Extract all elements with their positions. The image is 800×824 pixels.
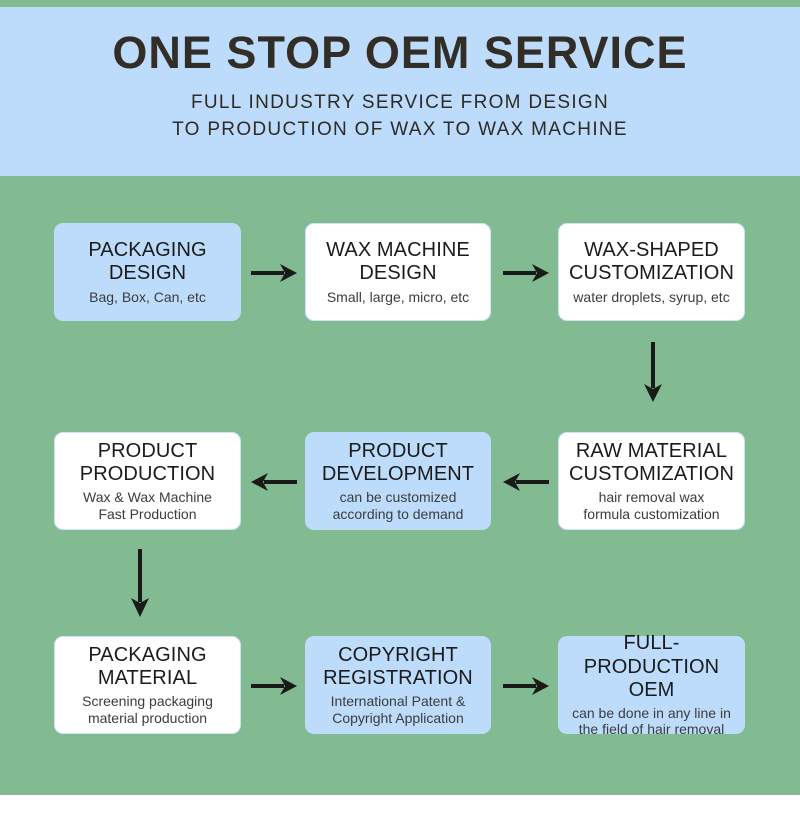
top-green-strip	[0, 0, 800, 7]
flow-node-title: PRODUCT DEVELOPMENT	[322, 440, 474, 486]
flow-node-subtitle-line-2: Fast Production	[83, 506, 212, 522]
arrow-right-icon-packaging-design-to-wax-machine-design	[250, 262, 298, 284]
arrow-right-icon-wax-machine-design-to-wax-shaped-customization	[502, 262, 550, 284]
flow-node-title-line-1: WAX-SHAPED	[569, 239, 734, 262]
page-subtitle-line-2: TO PRODUCTION OF WAX TO WAX MACHINE	[172, 117, 628, 144]
flow-node-title-line-2: CUSTOMIZATION	[569, 262, 734, 285]
flow-node-full-production-oem[interactable]: FULL- PRODUCTION OEM can be done in any …	[558, 636, 745, 734]
flow-node-title: FULL- PRODUCTION OEM	[567, 632, 736, 702]
arrow-right-icon-copyright-registration-to-full-production-oem	[502, 675, 550, 697]
flow-node-subtitle-line-2: Copyright Application	[331, 710, 466, 726]
flow-node-title: COPYRIGHT REGISTRATION	[323, 644, 473, 690]
arrow-left-icon-product-development-to-product-production	[250, 471, 298, 493]
arrow-right-icon-packaging-material-to-copyright-registration	[250, 675, 298, 697]
flow-node-title-line-2: DEVELOPMENT	[322, 463, 474, 486]
flow-node-subtitle: water droplets, syrup, etc	[573, 289, 729, 305]
flow-node-title-line-2: DESIGN	[326, 262, 470, 285]
flow-node-title-line-2: PRODUCTION OEM	[567, 656, 736, 702]
flow-node-subtitle-line-1: water droplets, syrup, etc	[573, 289, 729, 305]
flow-node-wax-machine-design[interactable]: WAX MACHINE DESIGN Small, large, micro, …	[305, 223, 491, 321]
flow-node-raw-material-customization[interactable]: RAW MATERIAL CUSTOMIZATION hair removal …	[558, 432, 745, 530]
flow-node-copyright-registration[interactable]: COPYRIGHT REGISTRATION International Pat…	[305, 636, 491, 734]
flow-node-subtitle: International Patent & Copyright Applica…	[331, 693, 466, 725]
flow-node-title: RAW MATERIAL CUSTOMIZATION	[569, 440, 734, 486]
flow-node-packaging-design[interactable]: PACKAGING DESIGN Bag, Box, Can, etc	[54, 223, 241, 321]
flow-node-title: PACKAGING MATERIAL	[88, 644, 206, 690]
infographic-page: ONE STOP OEM SERVICE FULL INDUSTRY SERVI…	[0, 0, 800, 824]
flow-node-title-line-2: MATERIAL	[88, 667, 206, 690]
page-subtitle-line-1: FULL INDUSTRY SERVICE FROM DESIGN	[172, 90, 628, 117]
flow-node-title-line-2: PRODUCTION	[80, 463, 215, 486]
flow-node-title-line-1: COPYRIGHT	[323, 644, 473, 667]
flow-node-packaging-material[interactable]: PACKAGING MATERIAL Screening packaging m…	[54, 636, 241, 734]
arrow-down-icon-product-production-to-packaging-material	[128, 548, 152, 618]
flow-node-subtitle-line-1: can be done in any line in	[572, 705, 731, 721]
flow-node-title-line-1: PACKAGING	[88, 239, 206, 262]
flow-node-title-line-1: PACKAGING	[88, 644, 206, 667]
flow-node-subtitle-line-1: Small, large, micro, etc	[327, 289, 469, 305]
flowchart-canvas: PACKAGING DESIGN Bag, Box, Can, etc WAX …	[0, 176, 800, 795]
flow-node-subtitle: Screening packaging material production	[82, 693, 213, 725]
flow-node-title-line-1: PRODUCT	[80, 440, 215, 463]
flow-node-title: WAX MACHINE DESIGN	[326, 239, 470, 285]
flow-node-subtitle-line-2: material production	[82, 710, 213, 726]
flow-node-subtitle: can be customized according to demand	[333, 489, 464, 521]
flow-node-title-line-2: DESIGN	[88, 262, 206, 285]
arrow-down-icon-wax-shaped-customization-to-raw-material-customization	[641, 341, 665, 403]
flow-node-subtitle-line-2: formula customization	[583, 506, 719, 522]
flow-node-title-line-1: RAW MATERIAL	[569, 440, 734, 463]
flow-node-subtitle: Small, large, micro, etc	[327, 289, 469, 305]
flow-node-subtitle-line-1: Bag, Box, Can, etc	[89, 289, 206, 305]
header-banner: ONE STOP OEM SERVICE FULL INDUSTRY SERVI…	[0, 7, 800, 176]
flow-node-title-line-1: PRODUCT	[322, 440, 474, 463]
flow-node-subtitle-line-1: Wax & Wax Machine	[83, 489, 212, 505]
flow-node-title: PACKAGING DESIGN	[88, 239, 206, 285]
page-subtitle: FULL INDUSTRY SERVICE FROM DESIGN TO PRO…	[172, 90, 628, 144]
page-title: ONE STOP OEM SERVICE	[112, 29, 687, 76]
flow-node-subtitle: hair removal wax formula customization	[583, 489, 719, 521]
flow-node-subtitle: Bag, Box, Can, etc	[89, 289, 206, 305]
flow-node-subtitle: can be done in any line in the field of …	[572, 705, 731, 737]
flow-node-subtitle-line-1: International Patent &	[331, 693, 466, 709]
flow-node-subtitle-line-2: according to demand	[333, 506, 464, 522]
flow-node-subtitle-line-2: the field of hair removal	[572, 721, 731, 737]
flow-node-wax-shaped-customization[interactable]: WAX-SHAPED CUSTOMIZATION water droplets,…	[558, 223, 745, 321]
flow-node-title: PRODUCT PRODUCTION	[80, 440, 215, 486]
flow-node-title-line-1: FULL-	[567, 632, 736, 655]
flow-node-title-line-2: REGISTRATION	[323, 667, 473, 690]
flow-node-title: WAX-SHAPED CUSTOMIZATION	[569, 239, 734, 285]
flow-node-subtitle-line-1: hair removal wax	[583, 489, 719, 505]
flow-node-title-line-2: CUSTOMIZATION	[569, 463, 734, 486]
flow-node-subtitle-line-1: can be customized	[333, 489, 464, 505]
flow-node-subtitle: Wax & Wax Machine Fast Production	[83, 489, 212, 521]
flow-node-product-production[interactable]: PRODUCT PRODUCTION Wax & Wax Machine Fas…	[54, 432, 241, 530]
arrow-left-icon-raw-material-customization-to-product-development	[502, 471, 550, 493]
flow-node-subtitle-line-1: Screening packaging	[82, 693, 213, 709]
flow-node-product-development[interactable]: PRODUCT DEVELOPMENT can be customized ac…	[305, 432, 491, 530]
flow-node-title-line-1: WAX MACHINE	[326, 239, 470, 262]
